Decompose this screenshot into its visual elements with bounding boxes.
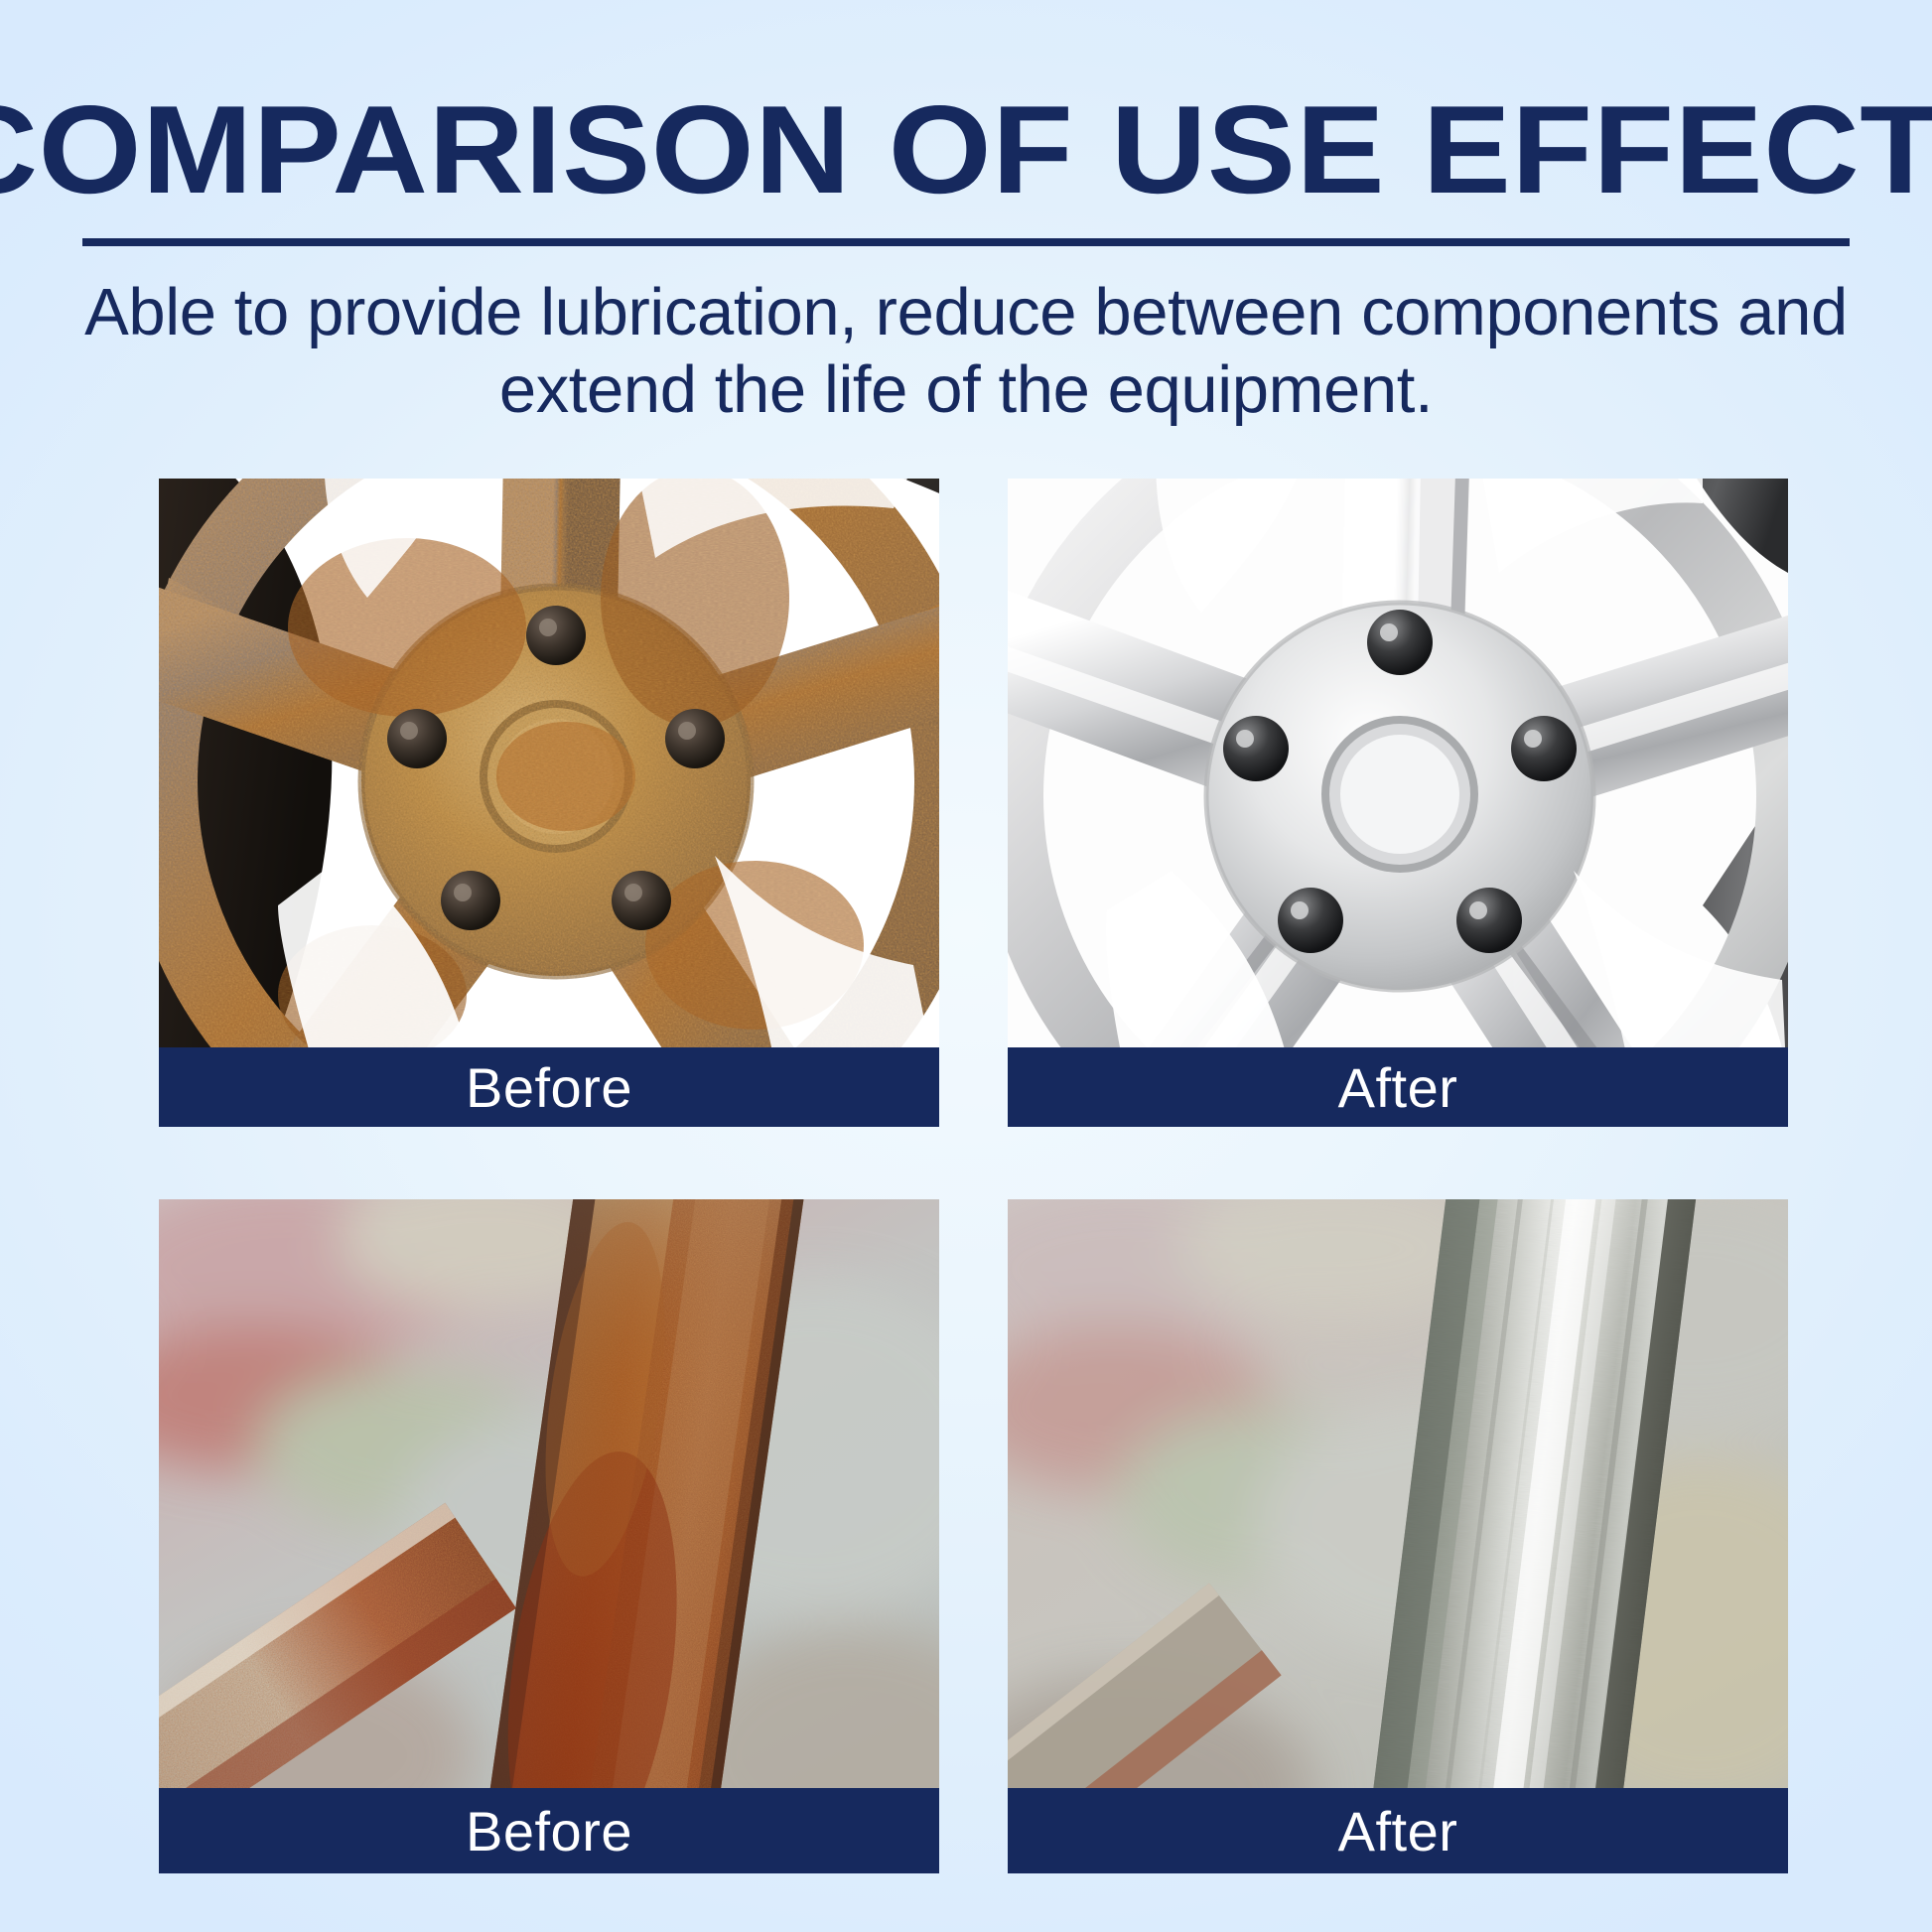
- panel-wheel-before: Before: [159, 479, 939, 1127]
- comparison-infographic: COMPARISON OF USE EFFECTS Able to provid…: [0, 0, 1932, 1932]
- clean-wheel-illustration: [1008, 479, 1788, 1127]
- photo-rusty-wheel: [159, 479, 939, 1127]
- subtitle-line-2: extend the life of the equipment.: [72, 351, 1860, 429]
- subtitle-line-1: Able to provide lubrication, reduce betw…: [72, 274, 1860, 351]
- page-title: COMPARISON OF USE EFFECTS: [0, 87, 1932, 212]
- clean-pipe-scene: [1008, 1199, 1788, 1873]
- photo-clean-pipe: [1008, 1199, 1788, 1873]
- rusty-wheel-scene: [159, 479, 939, 1127]
- photo-rusty-pipe: [159, 1199, 939, 1873]
- label-bar-after-pipe: After: [1008, 1788, 1788, 1873]
- photo-clean-wheel: [1008, 479, 1788, 1127]
- comparison-grid: Before: [159, 479, 1788, 1873]
- header: COMPARISON OF USE EFFECTS Able to provid…: [0, 0, 1932, 430]
- clean-pipe-illustration: [1008, 1199, 1788, 1873]
- rusty-wheel-illustration: [159, 479, 939, 1127]
- title-divider: [82, 238, 1850, 246]
- label-bar-before-pipe: Before: [159, 1788, 939, 1873]
- panel-wheel-after: After: [1008, 479, 1788, 1127]
- subtitle: Able to provide lubrication, reduce betw…: [72, 274, 1860, 430]
- rusty-pipe-scene: [159, 1199, 939, 1873]
- clean-wheel-scene: [1008, 479, 1788, 1127]
- panel-pipe-after: After: [1008, 1199, 1788, 1873]
- panel-pipe-before: Before: [159, 1199, 939, 1873]
- rusty-pipe-illustration: [159, 1199, 939, 1873]
- label-bar-after-wheel: After: [1008, 1047, 1788, 1127]
- label-bar-before-wheel: Before: [159, 1047, 939, 1127]
